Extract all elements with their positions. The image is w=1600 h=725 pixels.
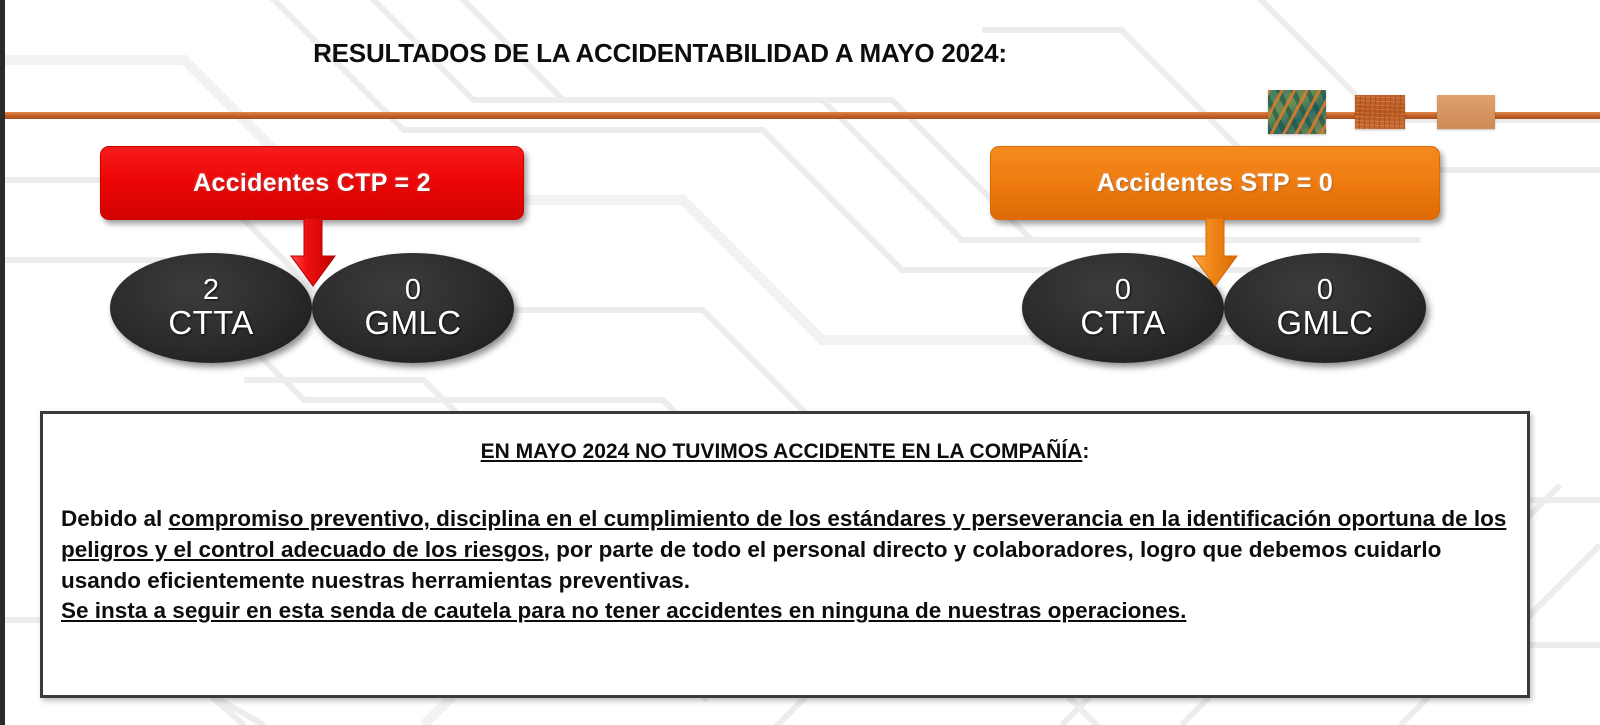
- photo-swatch-soil-icon: [1355, 95, 1405, 129]
- page-title: RESULTADOS DE LA ACCIDENTABILIDAD A MAYO…: [5, 38, 1315, 69]
- banner-ctp-label: Accidentes CTP = 2: [193, 169, 431, 198]
- node-ctp-gmlc[interactable]: 0 GMLC: [312, 253, 514, 363]
- message-line1-plain: Debido al: [61, 506, 169, 531]
- banner-accidentes-stp[interactable]: Accidentes STP = 0: [990, 146, 1440, 220]
- node-stp-gmlc[interactable]: 0 GMLC: [1224, 253, 1426, 363]
- node-stp-ctta-value: 0: [1115, 275, 1131, 305]
- down-arrow-icon: [290, 218, 336, 288]
- node-ctp-ctta-site: CTTA: [168, 306, 253, 341]
- slide-canvas: RESULTADOS DE LA ACCIDENTABILIDAD A MAYO…: [0, 0, 1600, 725]
- message-line2-underlined: Se insta a seguir en esta senda de caute…: [61, 596, 1515, 627]
- message-body: Debido al compromiso preventivo, discipl…: [53, 504, 1517, 627]
- message-heading-underlined: EN MAYO 2024 NO TUVIMOS ACCIDENTE EN LA …: [481, 440, 1083, 463]
- banner-accidentes-ctp[interactable]: Accidentes CTP = 2: [100, 146, 524, 220]
- group-stp: Accidentes STP = 0 0 CTTA 0 GMLC: [990, 146, 1440, 220]
- node-stp-gmlc-site: GMLC: [1277, 306, 1374, 341]
- photo-swatch-sand-icon: [1437, 95, 1495, 129]
- photo-swatch-terrain-icon: [1268, 90, 1326, 134]
- message-panel: EN MAYO 2024 NO TUVIMOS ACCIDENTE EN LA …: [40, 411, 1530, 698]
- group-ctp: Accidentes CTP = 2 2 CTTA 0 GMLC: [100, 146, 524, 220]
- node-ctp-ctta[interactable]: 2 CTTA: [110, 253, 312, 363]
- message-heading: EN MAYO 2024 NO TUVIMOS ACCIDENTE EN LA …: [53, 440, 1517, 464]
- node-stp-ctta-site: CTTA: [1080, 306, 1165, 341]
- node-ctp-gmlc-site: GMLC: [365, 306, 462, 341]
- down-arrow-icon: [1192, 218, 1238, 288]
- node-stp-gmlc-value: 0: [1317, 275, 1333, 305]
- node-ctp-ctta-value: 2: [203, 275, 219, 305]
- banner-stp-label: Accidentes STP = 0: [1097, 169, 1333, 198]
- message-heading-tail: :: [1082, 440, 1089, 463]
- node-ctp-gmlc-value: 0: [405, 275, 421, 305]
